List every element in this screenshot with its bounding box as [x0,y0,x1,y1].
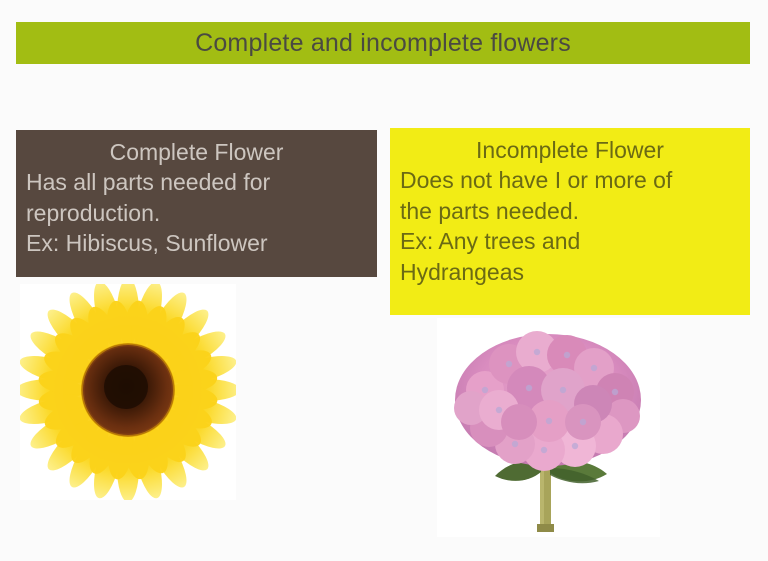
hydrangea-photo [437,318,660,537]
incomplete-flower-line-2: the parts needed. [400,196,740,227]
slide-canvas: Complete and incomplete flowers Complete… [0,0,768,561]
complete-flower-line-1: Has all parts needed for [26,167,367,198]
hydrangea-illustration [437,318,660,537]
incomplete-flower-line-4: Hydrangeas [400,257,740,288]
slide-title-banner: Complete and incomplete flowers [16,22,750,64]
incomplete-flower-heading: Incomplete Flower [400,136,740,164]
complete-flower-heading: Complete Flower [26,138,367,166]
sunflower-photo [20,284,236,500]
page-title: Complete and incomplete flowers [195,31,571,56]
incomplete-flower-line-1: Does not have I or more of [400,165,740,196]
complete-flower-line-2: reproduction. [26,198,367,229]
incomplete-flower-line-3: Ex: Any trees and [400,226,740,257]
complete-flower-line-3: Ex: Hibiscus, Sunflower [26,228,367,259]
sunflower-illustration [20,284,236,500]
incomplete-flower-card: Incomplete Flower Does not have I or mor… [390,128,750,315]
complete-flower-card: Complete Flower Has all parts needed for… [16,130,377,277]
